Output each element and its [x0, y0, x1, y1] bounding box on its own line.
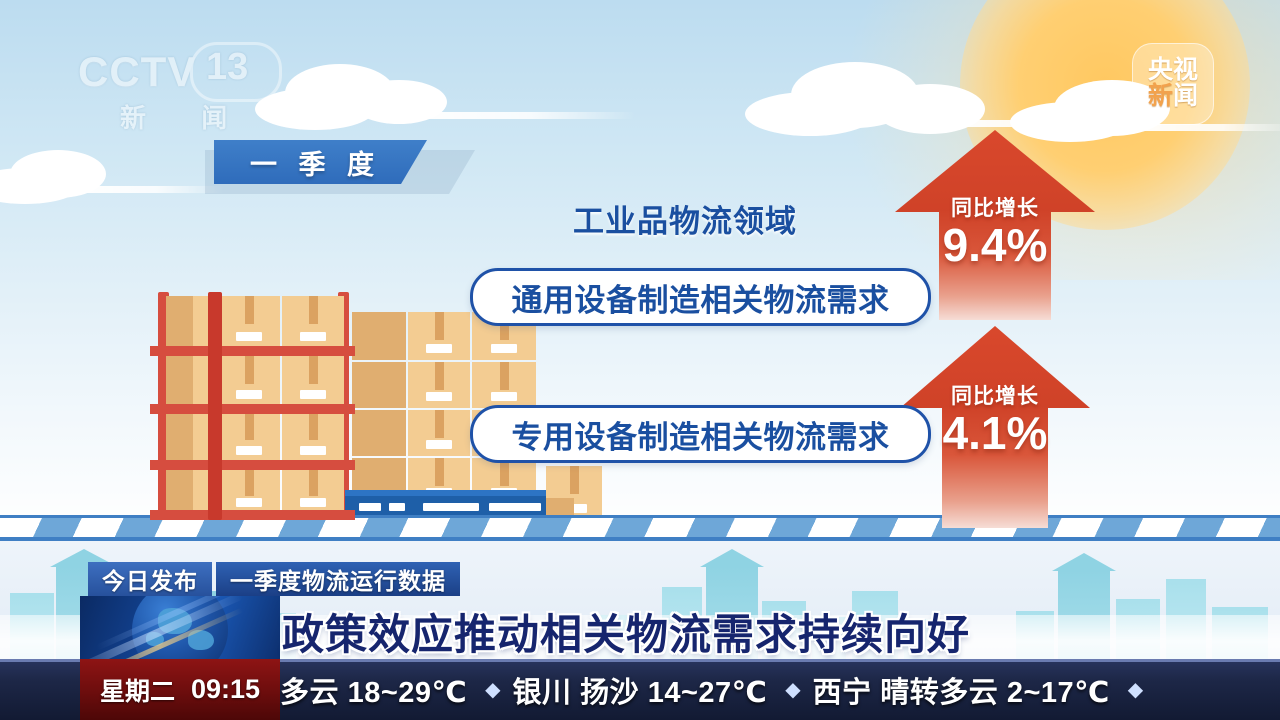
- weather-condition: 晴转多云: [880, 677, 998, 709]
- cctv13-watermark: CCTV 13 新 闻: [78, 48, 278, 136]
- weather-entry: 银川 扬沙 14~27℃: [513, 669, 768, 711]
- rack-beam: [150, 460, 355, 470]
- logo-glyph-yang: 央: [1148, 58, 1173, 84]
- tag-topic-label: 一季度物流运行数据: [230, 562, 446, 596]
- weather-city: 银川: [513, 677, 572, 709]
- category-pill-special-equipment: 专用设备制造相关物流需求: [470, 405, 931, 463]
- weather-entry: 西宁 晴转多云 2~17℃: [813, 669, 1110, 711]
- category-pill-label: 通用设备制造相关物流需求: [512, 275, 890, 320]
- lower-third-tags: 今日发布 一季度物流运行数据: [88, 562, 460, 596]
- category-pill-label: 专用设备制造相关物流需求: [512, 412, 890, 457]
- logo-glyph-wen: 闻: [1173, 84, 1198, 110]
- ticker-bullet-icon: ◆: [785, 677, 800, 702]
- rack-beam: [150, 510, 355, 520]
- metric-label: 同比增长: [895, 192, 1095, 222]
- warehouse-rack-illustration: [150, 292, 355, 520]
- weather-temp: 18~29℃: [348, 677, 468, 709]
- ticker-bullet-icon: ◆: [1128, 677, 1143, 702]
- weather-city: 西宁: [813, 677, 872, 709]
- date-time-box: 星期二 09:15: [80, 659, 280, 720]
- category-pill-general-equipment: 通用设备制造相关物流需求: [470, 268, 931, 326]
- rack-beam: [150, 346, 355, 356]
- metric-label: 同比增长: [900, 380, 1090, 410]
- weather-temp: 14~27℃: [648, 677, 768, 709]
- growth-arrow-up: 同比增长 4.1%: [900, 326, 1090, 526]
- metric-value: 9.4%: [895, 222, 1095, 268]
- period-banner: 一 季 度: [214, 140, 427, 184]
- weather-condition: 多云: [280, 677, 339, 709]
- metric-value: 4.1%: [900, 410, 1090, 456]
- logo-glyph-shi: 视: [1173, 58, 1198, 84]
- weekday-label: 星期二: [100, 672, 175, 708]
- weather-condition: 扬沙: [580, 677, 639, 709]
- tag-topic: 一季度物流运行数据: [216, 562, 460, 596]
- logo-glyph-xin: 新: [1148, 84, 1173, 110]
- tag-today-published-label: 今日发布: [102, 562, 198, 596]
- cctv-news-logo: 央 视 新 闻: [1132, 43, 1214, 125]
- clock-label: 09:15: [191, 674, 260, 705]
- watermark-news-text: 新 闻: [120, 98, 251, 135]
- weather-entry: 多云 18~29℃: [280, 669, 467, 711]
- broadcast-screen: CCTV 13 新 闻 央 视 新 闻 一 季 度: [0, 0, 1280, 720]
- rack-beam: [150, 404, 355, 414]
- watermark-channel-number: 13: [206, 46, 248, 89]
- weather-ticker: 多云 18~29℃ ◆ 银川 扬沙 14~27℃ ◆ 西宁 晴转多云 2~17℃…: [280, 659, 1280, 720]
- weather-temp: 2~17℃: [1007, 677, 1110, 709]
- ticker-bullet-icon: ◆: [485, 677, 500, 702]
- rack-post: [208, 292, 222, 520]
- tag-today-published: 今日发布: [88, 562, 212, 596]
- news-headline: 政策效应推动相关物流需求持续向好: [282, 601, 970, 662]
- period-banner-label: 一 季 度: [250, 143, 381, 182]
- section-title: 工业品物流领域: [573, 196, 797, 241]
- globe-icon: [80, 596, 280, 660]
